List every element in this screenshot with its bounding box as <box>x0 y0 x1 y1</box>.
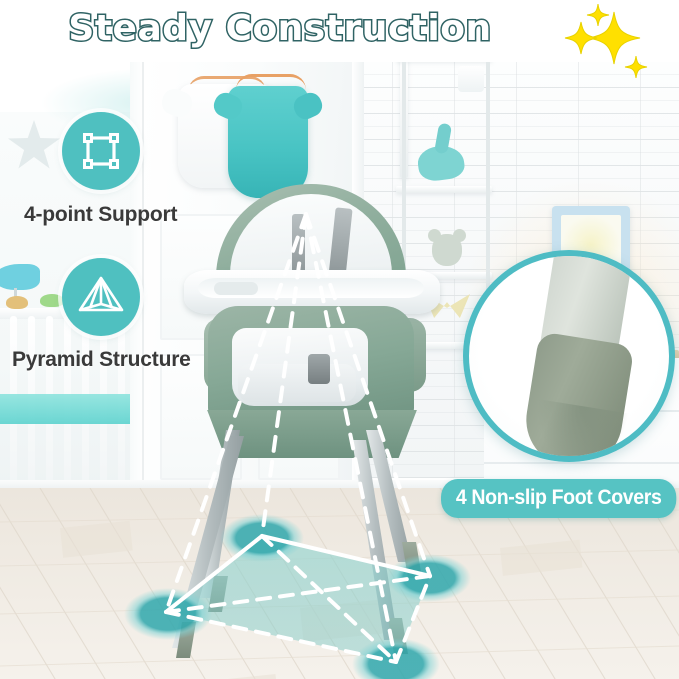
sparkle-decoration <box>556 2 674 80</box>
harness-buckle-icon <box>308 354 330 384</box>
crib-toy-bear-icon <box>6 296 28 309</box>
foot-cover-closeup-callout <box>463 250 675 462</box>
page-title: Steady Construction <box>0 8 560 49</box>
chair-leg-front-right <box>352 440 398 640</box>
sparkle-medium-icon <box>565 22 597 54</box>
feature-label-pyramid-structure: Pyramid Structure <box>12 348 191 372</box>
feature-badge-pyramid-structure[interactable] <box>62 258 140 336</box>
foot-cover-front-right <box>388 618 408 654</box>
pyramid-wireframe-icon <box>76 274 126 320</box>
four-corner-square-icon <box>78 128 124 174</box>
feature-badge-four-point-support[interactable] <box>62 112 140 190</box>
chair-leg-front-left <box>172 436 244 648</box>
chair-seat-pad <box>238 364 356 402</box>
sparkle-small-icon <box>587 4 609 26</box>
feature-label-four-point-support: 4-point Support <box>24 203 177 227</box>
product-feature-graphic: 4-point Support Pyramid Structure 4 Non-… <box>0 0 679 679</box>
tray-cup-holder <box>214 282 258 295</box>
callout-caption-pill: 4 Non-slip Foot Covers <box>441 479 676 518</box>
storage-jar <box>458 66 484 92</box>
crib-toy-leaf-icon <box>40 294 64 307</box>
harness-strap-left <box>292 214 305 276</box>
baby-high-chair <box>180 178 448 648</box>
bird-toy-icon <box>0 264 40 290</box>
foot-cover-back-right <box>402 542 422 578</box>
sparkle-small-icon-2 <box>625 56 647 78</box>
